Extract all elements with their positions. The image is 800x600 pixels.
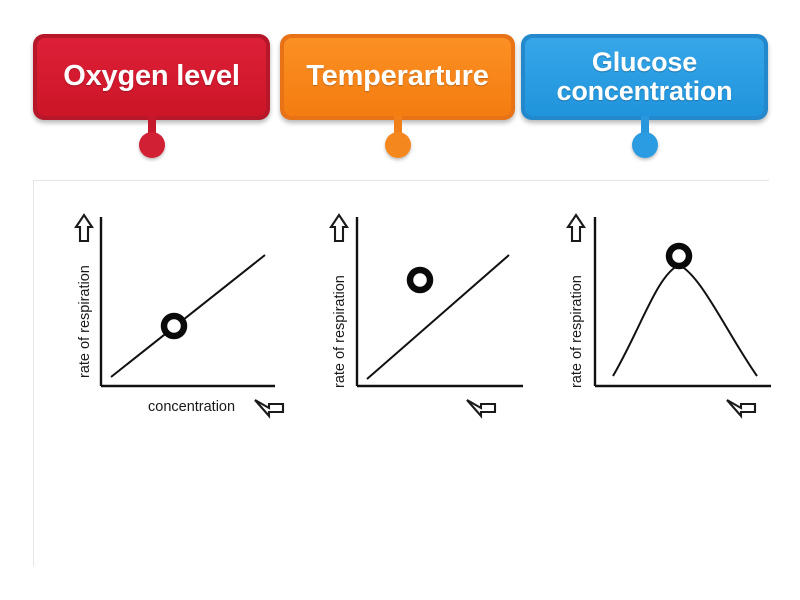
graph-oxygen-xlabel: concentration — [148, 399, 235, 415]
label-card-oxygen-inner: Oxygen level — [37, 38, 266, 116]
right-arrow-icon — [255, 400, 283, 416]
label-card-glucose-text: Glucose concentration — [531, 48, 758, 106]
right-arrow-icon — [467, 400, 495, 416]
graph-temperature-ylabel: rate of respiration — [332, 275, 348, 388]
label-cards-row: Oxygen level Temperarture Glucose concen… — [0, 0, 800, 180]
pin-dot-glucose[interactable] — [632, 132, 658, 158]
label-card-temperature-body[interactable]: Temperarture — [280, 34, 515, 120]
label-card-temperature[interactable]: Temperarture — [280, 34, 515, 120]
label-card-oxygen-body[interactable]: Oxygen level — [33, 34, 270, 120]
graph-temperature-svg: rate of respiration — [287, 203, 549, 433]
graph-oxygen-ylabel: rate of respiration — [77, 265, 93, 378]
label-card-glucose-inner: Glucose concentration — [525, 38, 764, 116]
graph-glucose-ylabel: rate of respiration — [569, 275, 585, 388]
right-arrow-icon — [727, 400, 755, 416]
label-card-oxygen-text: Oxygen level — [63, 61, 240, 92]
label-card-glucose-body[interactable]: Glucose concentration — [521, 34, 768, 120]
graph-oxygen-svg: rate of respiration concentration — [39, 203, 301, 433]
graph-glucose: rate of respiration — [531, 203, 793, 433]
up-arrow-icon — [568, 215, 584, 241]
graph-oxygen-curve — [111, 255, 265, 377]
label-card-glucose[interactable]: Glucose concentration — [521, 34, 768, 120]
graph-glucose-curve — [613, 265, 757, 376]
label-card-temperature-inner: Temperarture — [284, 38, 511, 116]
up-arrow-icon — [76, 215, 92, 241]
pin-dot-temperature[interactable] — [385, 132, 411, 158]
graph-temperature: rate of respiration — [287, 203, 549, 433]
graph-panel: rate of respiration concentration rate o… — [33, 180, 769, 566]
label-card-temperature-text: Temperarture — [306, 61, 488, 92]
graph-temperature-curve — [367, 255, 509, 379]
pin-dot-oxygen[interactable] — [139, 132, 165, 158]
label-card-oxygen[interactable]: Oxygen level — [33, 34, 270, 120]
up-arrow-icon — [331, 215, 347, 241]
circle-marker-glucose[interactable] — [669, 246, 689, 266]
circle-marker-temperature[interactable] — [410, 270, 430, 290]
graph-glucose-svg: rate of respiration — [531, 203, 793, 433]
graph-oxygen: rate of respiration concentration — [39, 203, 301, 433]
circle-marker-oxygen[interactable] — [164, 316, 184, 336]
